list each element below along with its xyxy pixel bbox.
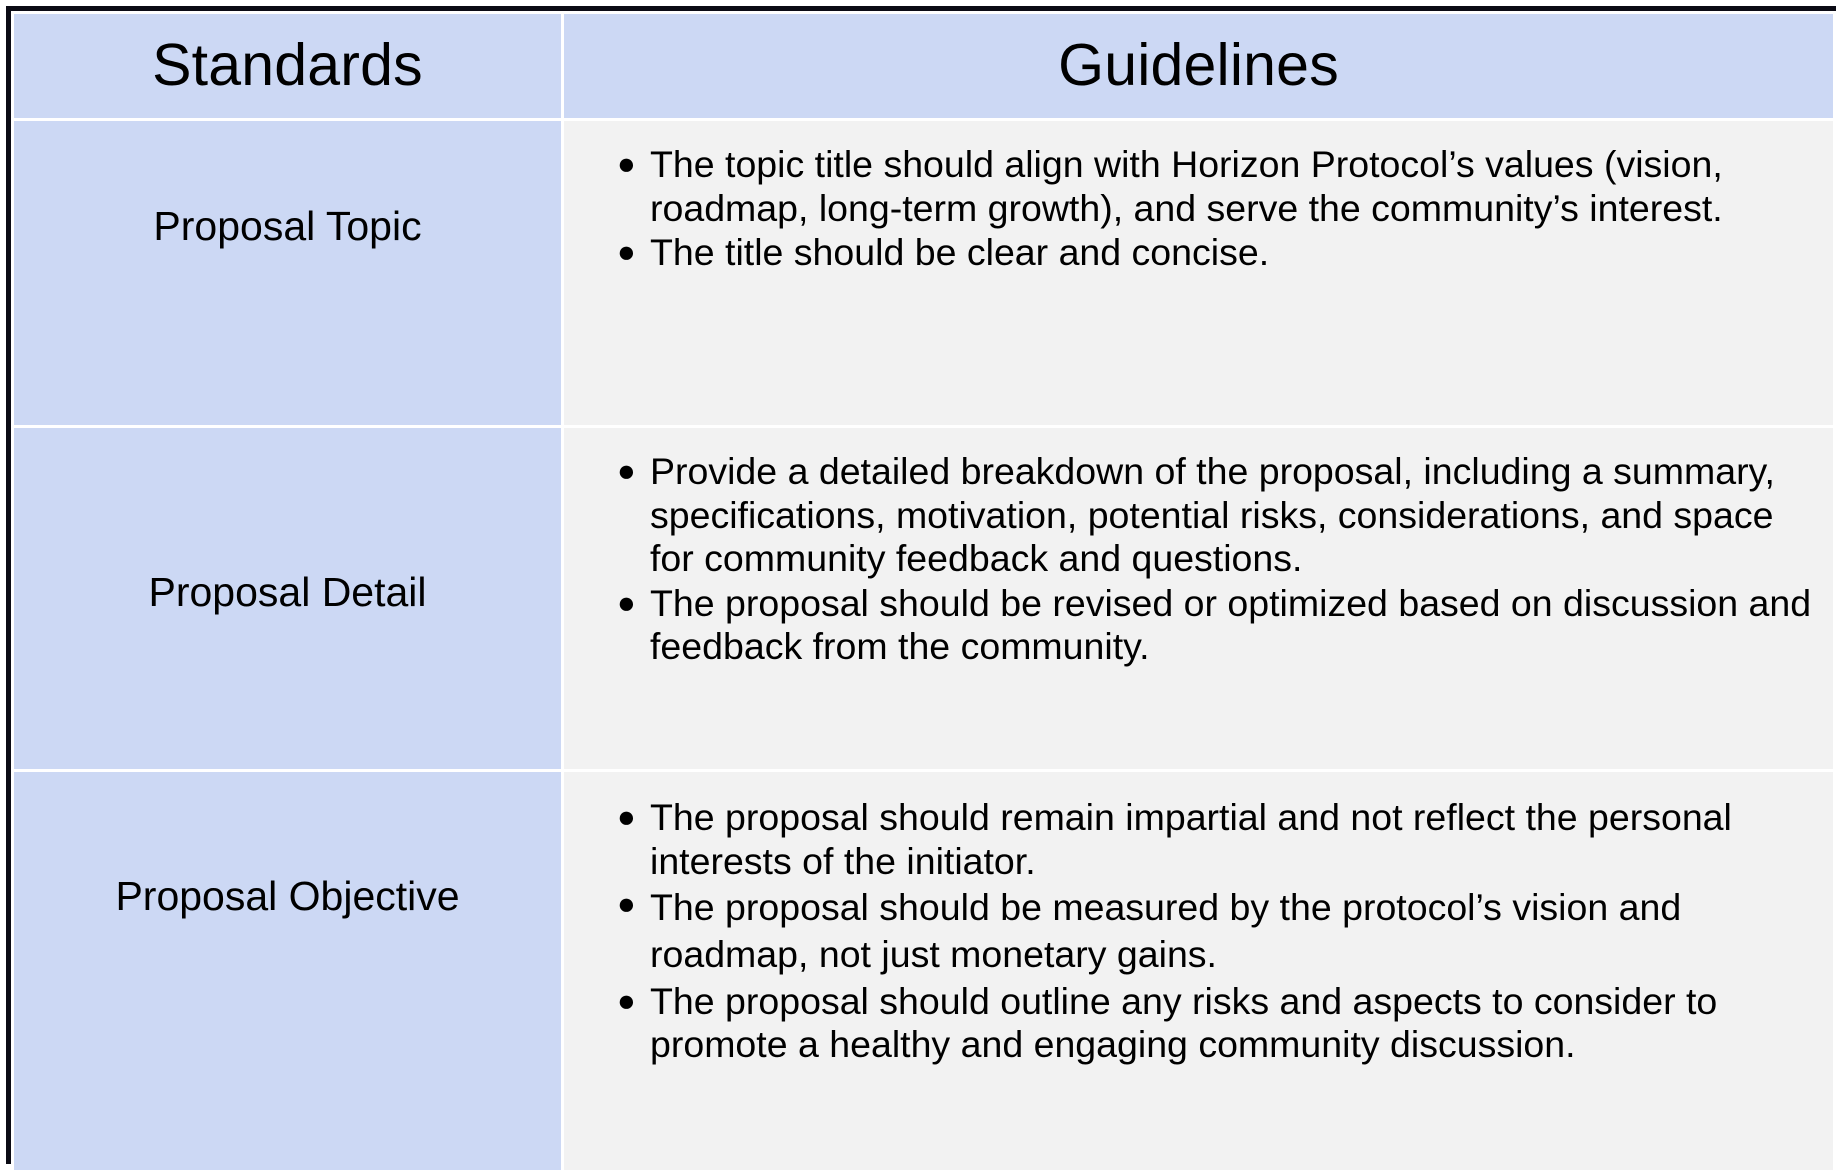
bullet-icon: ● [617, 231, 636, 274]
list-item: ● Provide a detailed breakdown of the pr… [564, 450, 1833, 581]
guideline-text: The proposal should be revised or optimi… [650, 582, 1833, 669]
list-item: ● The proposal should be measured by the… [564, 884, 1833, 979]
guideline-text: The title should be clear and concise. [650, 231, 1833, 275]
table-row: Proposal Objective ● The proposal should… [14, 772, 1833, 1170]
guideline-list: ● Provide a detailed breakdown of the pr… [564, 450, 1833, 669]
standards-guidelines-table-container: Standards Guidelines Proposal Topic [6, 6, 1836, 1164]
guideline-text: The topic title should align with Horizo… [650, 143, 1833, 230]
guideline-list: ● The proposal should remain impartial a… [564, 796, 1833, 1067]
bullet-icon: ● [617, 143, 636, 186]
list-item: ● The proposal should outline any risks … [564, 980, 1833, 1067]
guidelines-cell-proposal-detail: ● Provide a detailed breakdown of the pr… [564, 428, 1833, 769]
bullet-icon: ● [617, 796, 636, 839]
guideline-text: The proposal should outline any risks an… [650, 980, 1833, 1067]
table-body: Proposal Topic ● The topic title should … [14, 121, 1833, 1170]
table-header-row: Standards Guidelines [14, 14, 1833, 118]
list-item: ● The proposal should remain impartial a… [564, 796, 1833, 883]
column-header-standards-label: Standards [14, 35, 561, 97]
table-row: Proposal Detail ● Provide a detailed bre… [14, 428, 1833, 769]
guidelines-cell-proposal-topic: ● The topic title should align with Hori… [564, 121, 1833, 425]
standard-label: Proposal Topic [14, 203, 561, 250]
standard-label: Proposal Detail [14, 569, 561, 616]
guideline-text: The proposal should remain impartial and… [650, 796, 1833, 883]
guideline-text: Provide a detailed breakdown of the prop… [650, 450, 1833, 581]
standard-cell-proposal-objective: Proposal Objective [14, 772, 561, 1170]
table-page: Standards Guidelines Proposal Topic [0, 0, 1842, 1170]
standard-cell-proposal-topic: Proposal Topic [14, 121, 561, 425]
list-item: ● The proposal should be revised or opti… [564, 582, 1833, 669]
guideline-list: ● The topic title should align with Hori… [564, 143, 1833, 275]
table-header: Standards Guidelines [14, 14, 1833, 118]
standard-cell-proposal-detail: Proposal Detail [14, 428, 561, 769]
list-item: ● The topic title should align with Hori… [564, 143, 1833, 230]
bullet-icon: ● [617, 582, 636, 625]
table-row: Proposal Topic ● The topic title should … [14, 121, 1833, 425]
bullet-icon: ● [617, 450, 636, 493]
bullet-icon: ● [617, 980, 636, 1023]
standard-label: Proposal Objective [14, 873, 561, 920]
guidelines-cell-proposal-objective: ● The proposal should remain impartial a… [564, 772, 1833, 1170]
column-header-guidelines: Guidelines [564, 14, 1833, 118]
bullet-icon: ● [617, 884, 636, 924]
column-header-guidelines-label: Guidelines [564, 35, 1833, 97]
list-item: ● The title should be clear and concise. [564, 231, 1833, 275]
standards-guidelines-table: Standards Guidelines Proposal Topic [11, 11, 1836, 1173]
guideline-text: The proposal should be measured by the p… [650, 884, 1833, 979]
column-header-standards: Standards [14, 14, 561, 118]
